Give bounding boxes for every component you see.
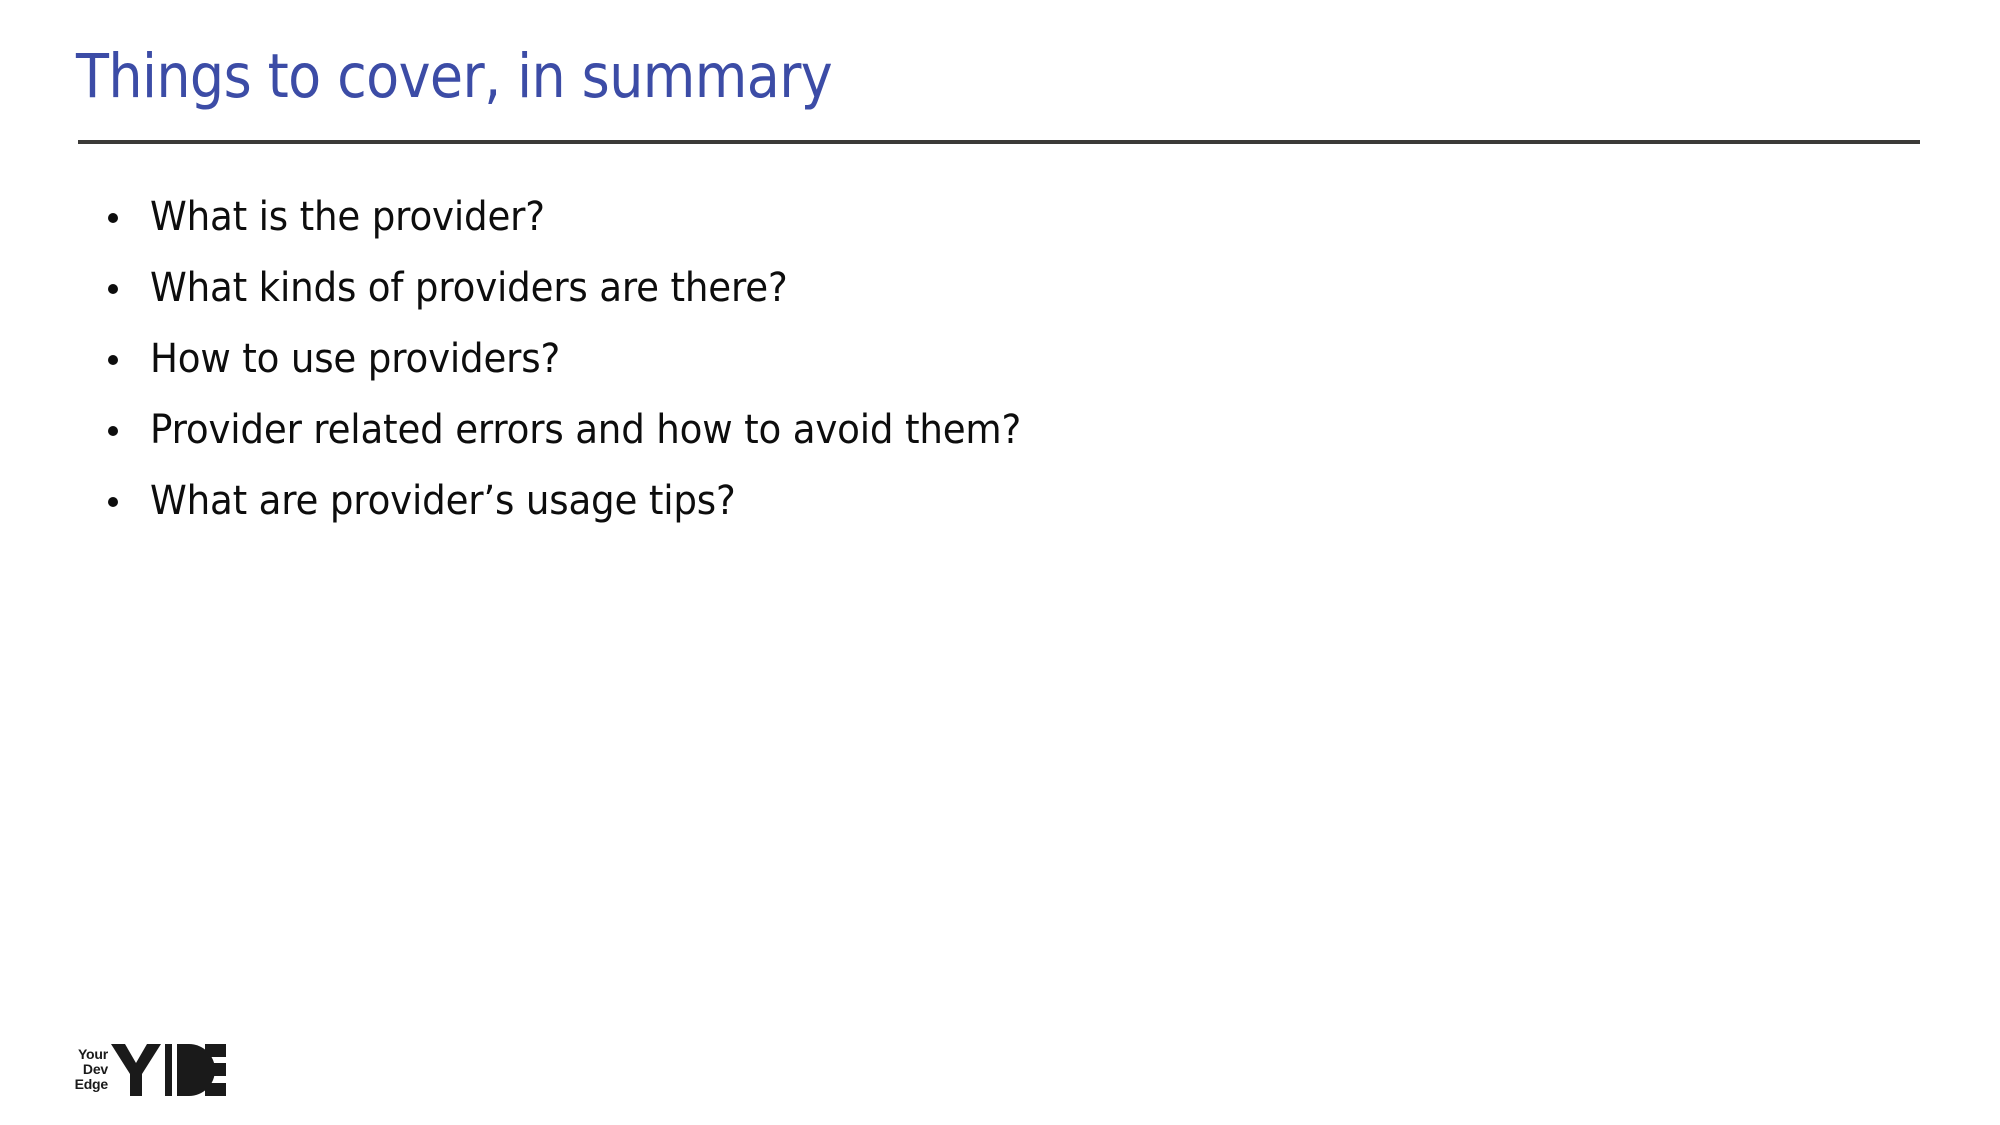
logo-line-2: Dev: [56, 1062, 108, 1077]
title-divider: [78, 140, 1920, 144]
page-title: Things to cover, in summary: [76, 46, 1711, 107]
list-item: How to use providers?: [104, 324, 1804, 395]
list-item: Provider related errors and how to avoid…: [104, 395, 1804, 466]
logo-line-3: Edge: [56, 1077, 108, 1092]
list-item: What are provider’s usage tips?: [104, 466, 1804, 537]
bullet-dot-icon: [108, 284, 118, 294]
list-item-label: What is the provider?: [150, 182, 545, 253]
bullet-dot-icon: [108, 213, 118, 223]
list-item: What is the provider?: [104, 182, 1804, 253]
logo-wordmark: Your Dev Edge: [56, 1047, 108, 1092]
bullet-dot-icon: [108, 355, 118, 365]
list-item: What kinds of providers are there?: [104, 253, 1804, 324]
slide-title-block: Things to cover, in summary: [76, 46, 1924, 107]
list-item-label: How to use providers?: [150, 324, 560, 395]
bullet-dot-icon: [108, 426, 118, 436]
bullet-dot-icon: [108, 497, 118, 507]
bullet-list: What is the provider? What kinds of prov…: [104, 182, 1804, 537]
list-item-label: Provider related errors and how to avoid…: [150, 395, 1021, 466]
list-item-label: What kinds of providers are there?: [150, 253, 788, 324]
your-dev-edge-logo: Your Dev Edge: [56, 1044, 226, 1100]
logo-line-1: Your: [56, 1047, 108, 1062]
slide-canvas: Things to cover, in summary What is the …: [0, 0, 2000, 1125]
list-item-label: What are provider’s usage tips?: [150, 466, 736, 537]
yde-mark-icon: [111, 1044, 226, 1096]
